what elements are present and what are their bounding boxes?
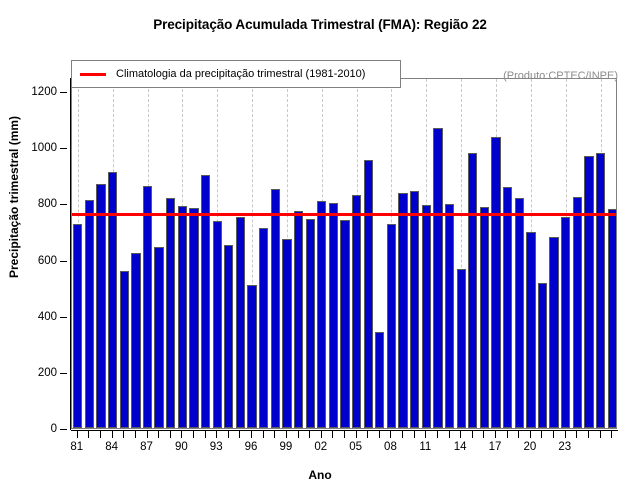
produto-annotation: (Produto:CPTEC/INPE) <box>503 70 618 82</box>
x-tick-label: 87 <box>140 441 153 453</box>
x-tick-label: 20 <box>523 441 536 453</box>
bar <box>131 253 140 428</box>
bar <box>433 128 442 428</box>
x-tick-mark <box>600 431 601 438</box>
bar <box>573 197 582 428</box>
bar <box>143 186 152 428</box>
x-tick-mark <box>309 431 310 438</box>
x-tick-mark <box>123 431 124 438</box>
x-tick-mark <box>77 431 78 438</box>
x-tick-label: 96 <box>245 441 258 453</box>
bar <box>549 237 558 428</box>
x-tick-label: 17 <box>489 441 502 453</box>
legend: Climatologia da precipitação trimestral … <box>71 60 401 88</box>
bar <box>608 209 616 428</box>
bar <box>375 332 384 428</box>
bar <box>178 206 187 428</box>
y-tick-label: 1200 <box>31 86 57 98</box>
y-tick-mark <box>60 429 67 430</box>
x-tick-label: 81 <box>70 441 83 453</box>
x-tick-mark <box>170 431 171 438</box>
bar <box>120 271 129 428</box>
x-tick-mark <box>135 431 136 438</box>
y-tick-mark <box>60 92 67 93</box>
x-tick-mark <box>263 431 264 438</box>
bar <box>317 201 326 428</box>
bar <box>236 217 245 428</box>
plot-frame <box>71 78 617 429</box>
x-tick-mark <box>483 431 484 438</box>
bar <box>96 184 105 428</box>
bar <box>259 228 268 428</box>
y-tick-label: 400 <box>38 311 57 323</box>
x-tick-mark <box>518 431 519 438</box>
x-tick-mark <box>565 431 566 438</box>
legend-label: Climatologia da precipitação trimestral … <box>116 68 365 80</box>
bar <box>526 232 535 428</box>
x-tick-mark <box>298 431 299 438</box>
y-tick-label: 800 <box>38 198 57 210</box>
x-tick-mark <box>193 431 194 438</box>
bar <box>247 285 256 428</box>
bar <box>515 198 524 428</box>
bar <box>491 137 500 428</box>
y-tick-mark <box>60 317 67 318</box>
bar <box>538 283 547 428</box>
legend-line-swatch <box>80 73 106 76</box>
x-tick-mark <box>611 431 612 438</box>
bar <box>387 224 396 428</box>
x-tick-label: 02 <box>314 441 327 453</box>
x-tick-mark <box>356 431 357 438</box>
x-tick-label: 84 <box>105 441 118 453</box>
x-tick-mark <box>576 431 577 438</box>
x-tick-label: 99 <box>280 441 293 453</box>
x-tick-mark <box>437 431 438 438</box>
x-tick-mark <box>530 431 531 438</box>
y-axis: 020040060080010001200 <box>0 70 71 440</box>
x-tick-label: 23 <box>558 441 571 453</box>
x-tick-mark <box>425 431 426 438</box>
x-tick-mark <box>367 431 368 438</box>
bar <box>422 205 431 428</box>
bar <box>352 195 361 428</box>
x-tick-mark <box>228 431 229 438</box>
x-tick-mark <box>460 431 461 438</box>
x-axis-title: Ano <box>0 468 640 482</box>
y-tick-label: 200 <box>38 367 57 379</box>
bar <box>154 247 163 428</box>
bar <box>166 198 175 428</box>
x-tick-mark <box>239 431 240 438</box>
bar <box>282 239 291 428</box>
x-tick-mark <box>553 431 554 438</box>
x-tick-label: 11 <box>419 441 431 453</box>
bar <box>271 189 280 428</box>
bar <box>445 204 454 428</box>
x-tick-mark <box>507 431 508 438</box>
bar <box>410 191 419 428</box>
x-tick-mark <box>274 431 275 438</box>
x-tick-mark <box>321 431 322 438</box>
chart-root: Precipitação Acumulada Trimestral (FMA):… <box>0 0 640 500</box>
x-tick-mark <box>205 431 206 438</box>
x-tick-label: 05 <box>349 441 362 453</box>
y-tick-mark <box>60 148 67 149</box>
bar <box>73 224 82 428</box>
bar <box>85 200 94 428</box>
bar <box>329 203 338 428</box>
x-tick-mark <box>286 431 287 438</box>
bar <box>213 221 222 428</box>
x-tick-mark <box>332 431 333 438</box>
bar <box>480 207 489 428</box>
x-tick-mark <box>181 431 182 438</box>
bar <box>306 219 315 428</box>
bar <box>561 217 570 428</box>
x-tick-mark <box>344 431 345 438</box>
x-tick-mark <box>495 431 496 438</box>
y-tick-mark <box>60 261 67 262</box>
x-tick-mark <box>216 431 217 438</box>
x-tick-mark <box>402 431 403 438</box>
bar <box>584 156 593 428</box>
x-tick-mark <box>158 431 159 438</box>
y-tick-mark <box>60 204 67 205</box>
x-tick-label: 14 <box>454 441 467 453</box>
x-tick-mark <box>390 431 391 438</box>
x-tick-label: 90 <box>175 441 188 453</box>
x-tick-mark <box>251 431 252 438</box>
bar <box>503 187 512 428</box>
bar <box>468 153 477 428</box>
climatology-reference-line <box>72 213 616 216</box>
x-tick-mark <box>100 431 101 438</box>
y-tick-label: 1000 <box>31 142 57 154</box>
bar <box>364 160 373 428</box>
y-tick-label: 0 <box>51 423 57 435</box>
bar <box>224 245 233 428</box>
y-tick-label: 600 <box>38 255 57 267</box>
x-tick-mark <box>541 431 542 438</box>
x-tick-label: 08 <box>384 441 397 453</box>
x-tick-mark <box>147 431 148 438</box>
bar <box>596 153 605 428</box>
x-tick-mark <box>88 431 89 438</box>
x-tick-mark <box>112 431 113 438</box>
x-tick-mark <box>588 431 589 438</box>
bar <box>189 208 198 428</box>
bar <box>294 211 303 428</box>
bar <box>108 172 117 428</box>
y-tick-mark <box>60 373 67 374</box>
x-tick-mark <box>449 431 450 438</box>
chart-title: Precipitação Acumulada Trimestral (FMA):… <box>0 17 640 32</box>
bar <box>340 220 349 428</box>
x-tick-mark <box>472 431 473 438</box>
bar <box>398 193 407 428</box>
x-tick-mark <box>414 431 415 438</box>
plot-area <box>72 79 616 428</box>
x-tick-mark <box>379 431 380 438</box>
bar <box>457 269 466 428</box>
x-tick-label: 93 <box>210 441 223 453</box>
